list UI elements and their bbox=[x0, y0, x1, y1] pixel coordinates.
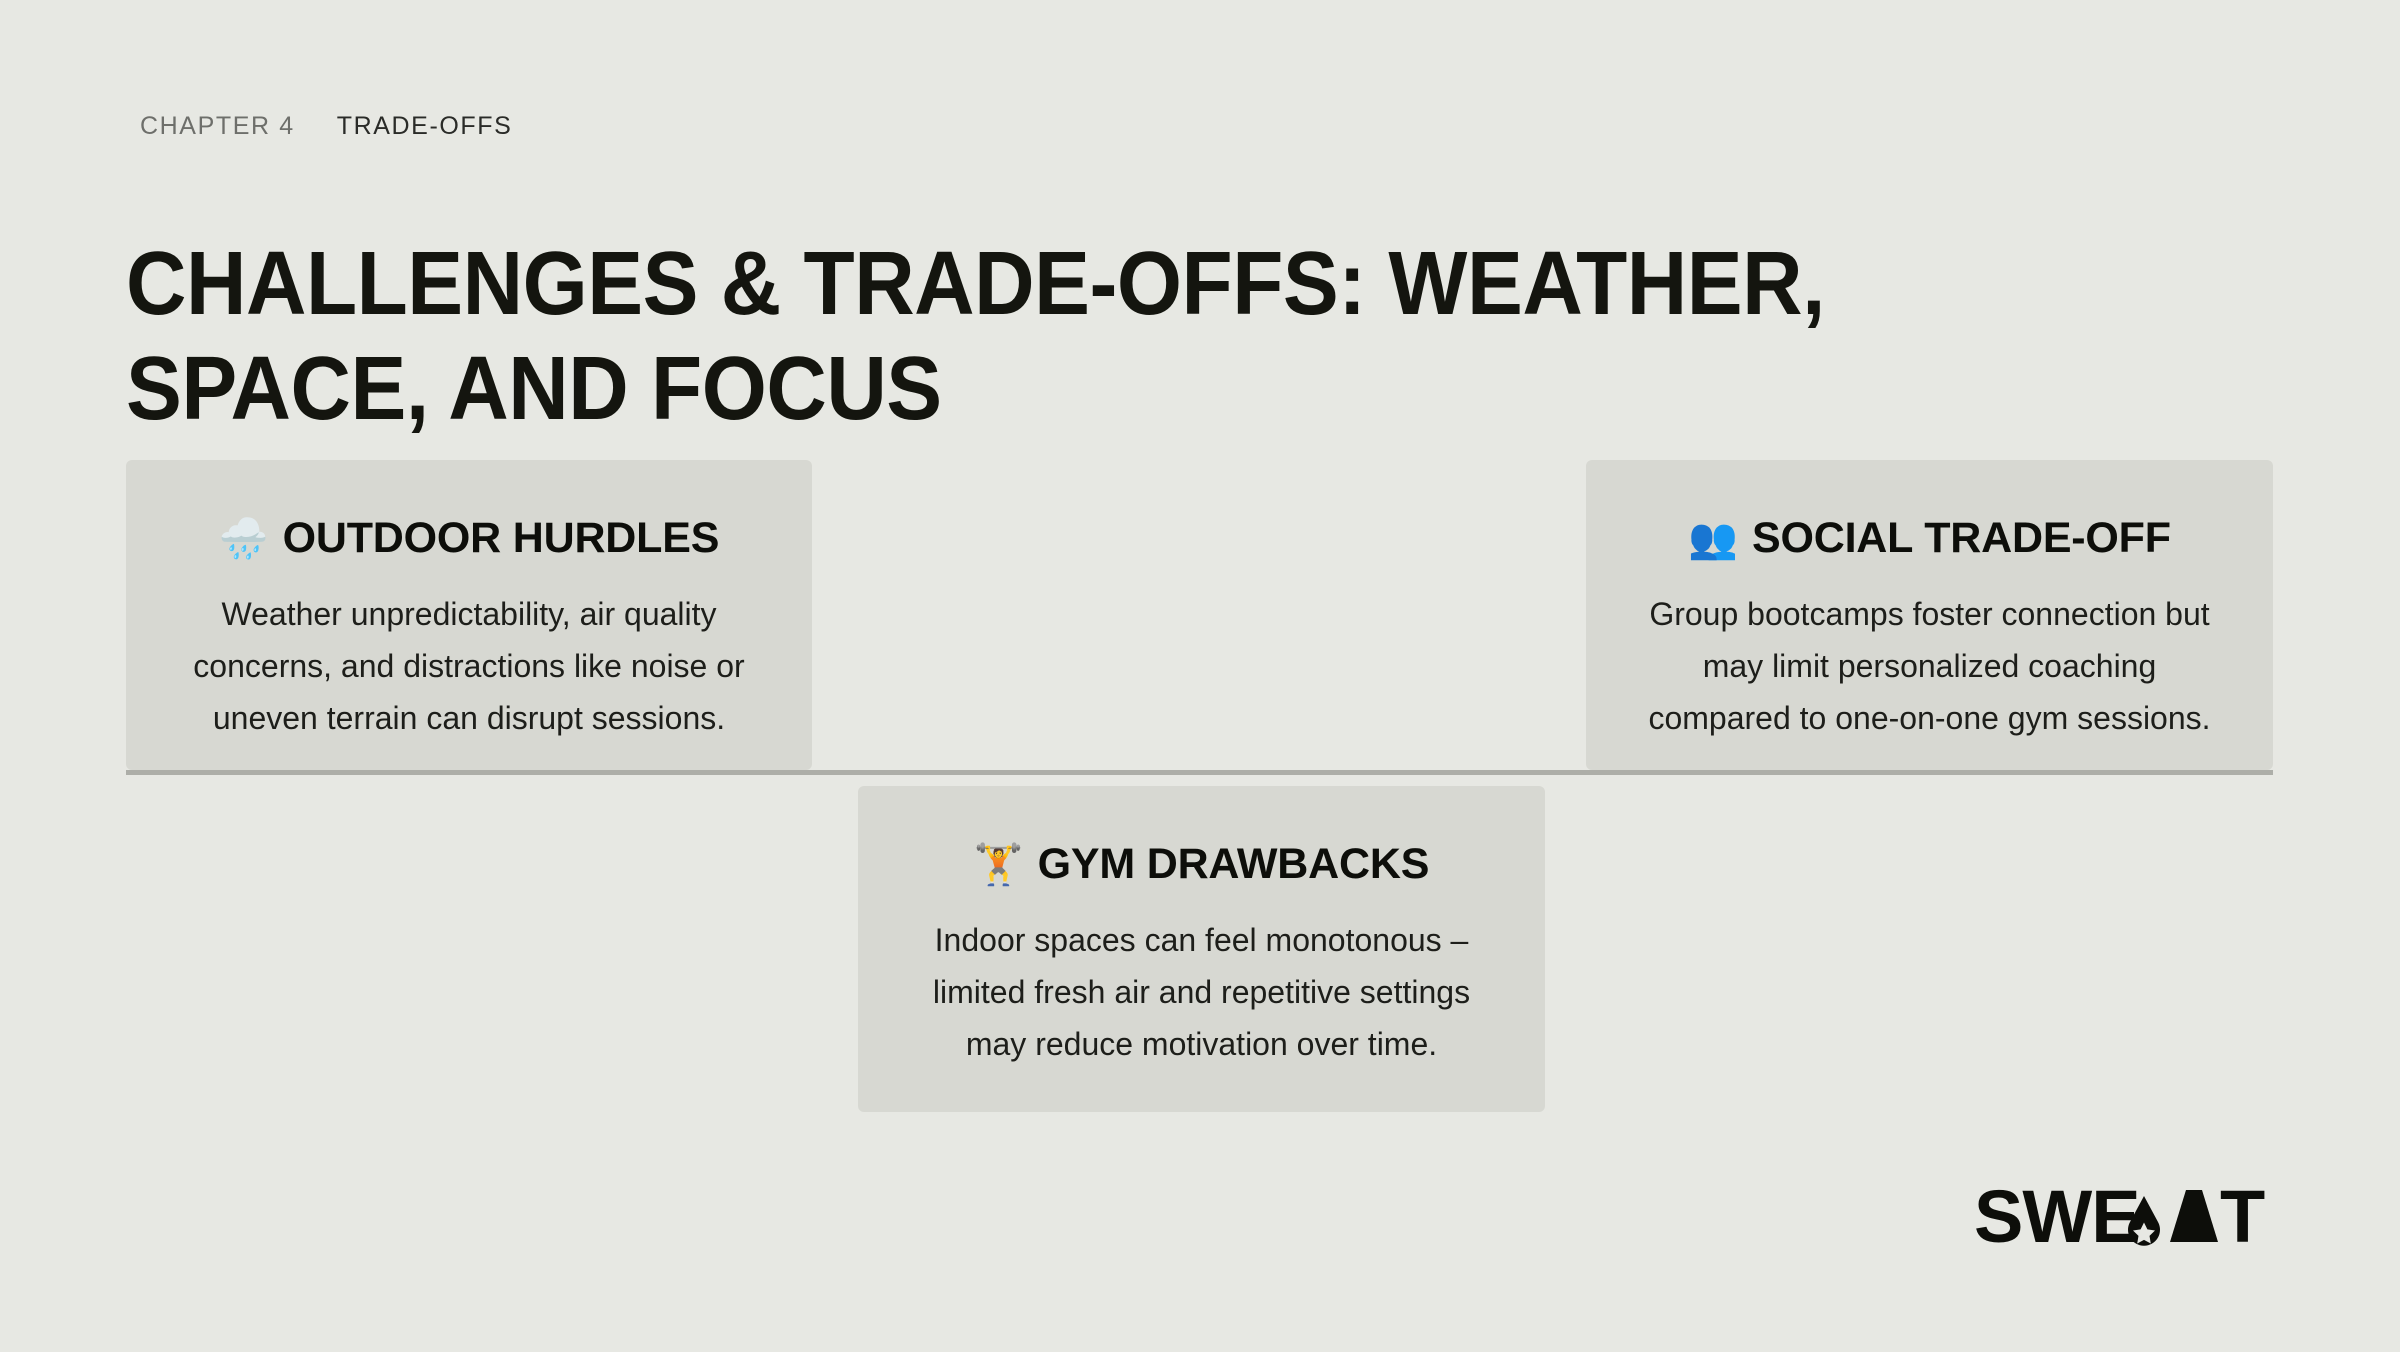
card-body-text: Indoor spaces can feel monotonous – limi… bbox=[898, 915, 1505, 1070]
card-title: GYM DRAWBACKS bbox=[1038, 840, 1430, 889]
page-title-line-2: SPACE, AND FOCUS bbox=[126, 337, 2079, 441]
sweat-logo: SWE T bbox=[1974, 1186, 2274, 1252]
sweat-logo-mark: SWE T bbox=[1974, 1182, 2274, 1252]
card-header: 👥 SOCIAL TRADE-OFF bbox=[1626, 514, 2233, 563]
chapter-label: CHAPTER 4 bbox=[140, 112, 295, 141]
breadcrumb: CHAPTER 4 TRADE-OFFS bbox=[140, 112, 512, 141]
card-title: OUTDOOR HURDLES bbox=[283, 514, 720, 563]
card-header: 🏋️ GYM DRAWBACKS bbox=[898, 840, 1505, 889]
cloud-with-rain-icon: 🌧️ bbox=[219, 519, 269, 559]
card-header: 🌧️ OUTDOOR HURDLES bbox=[166, 514, 772, 563]
logo-text-after: T bbox=[2220, 1182, 2265, 1252]
page-title-line-1: CHALLENGES & TRADE-OFFS: WEATHER, bbox=[126, 232, 2079, 336]
section-kicker: TRADE-OFFS bbox=[337, 112, 513, 141]
card-social-trade-off: 👥 SOCIAL TRADE-OFF Group bootcamps foste… bbox=[1586, 460, 2273, 770]
card-title: SOCIAL TRADE-OFF bbox=[1752, 514, 2171, 563]
card-gym-drawbacks: 🏋️ GYM DRAWBACKS Indoor spaces can feel … bbox=[858, 786, 1545, 1112]
logo-text-before: SWE bbox=[1974, 1182, 2140, 1252]
weightlifter-icon: 🏋️ bbox=[974, 845, 1024, 885]
card-body-text: Group bootcamps foster connection but ma… bbox=[1626, 589, 2233, 744]
card-body-text: Weather unpredictability, air quality co… bbox=[166, 589, 772, 744]
card-outdoor-hurdles: 🌧️ OUTDOOR HURDLES Weather unpredictabil… bbox=[126, 460, 812, 770]
slide-root: CHAPTER 4 TRADE-OFFS CHALLENGES & TRADE-… bbox=[0, 0, 2400, 1352]
horizontal-divider bbox=[126, 770, 2273, 775]
two-people-icon: 👥 bbox=[1688, 519, 1738, 559]
page-title: CHALLENGES & TRADE-OFFS: WEATHER, SPACE,… bbox=[126, 232, 2079, 441]
